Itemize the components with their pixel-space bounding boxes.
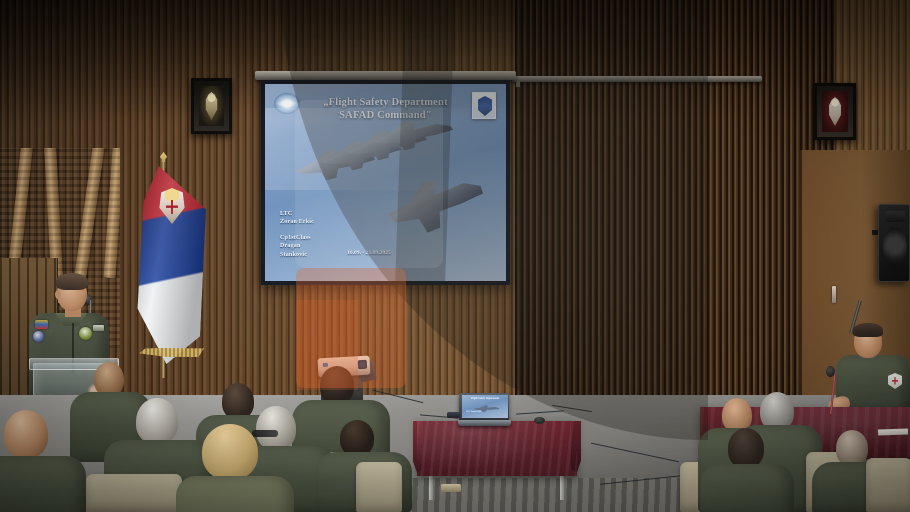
- table-leg: [560, 472, 564, 500]
- slide-title-line2: SAFAD Command": [299, 110, 472, 123]
- presentation-slide: „Flight Safety Department SAFAD Command"…: [265, 84, 506, 281]
- fighter-jet-icon: [375, 162, 491, 246]
- presenter-rank: LTC: [280, 210, 390, 218]
- screen-roller-housing[interactable]: [255, 71, 516, 80]
- copresenter-rank: Cp1stClass: [280, 234, 390, 242]
- wall-dense-slat-panel: [515, 0, 835, 400]
- coat-of-arms-icon: [204, 92, 219, 120]
- laptop-lid: Flight Safety Department LTC Zoran Erkic: [459, 393, 509, 421]
- slide-date-range: 16.09. - 21.09.2025: [347, 250, 391, 256]
- chest-patch-icon: [79, 327, 92, 340]
- audience-head: [256, 406, 296, 450]
- screen-frame: „Flight Safety Department SAFAD Command"…: [261, 80, 510, 285]
- serbian-flag: [131, 152, 215, 378]
- rail-bracket: [516, 80, 520, 87]
- eyeglasses-icon: [252, 430, 278, 437]
- slide-title-line1: „Flight Safety Department: [299, 97, 472, 110]
- audience-head: [320, 366, 354, 404]
- projection-screen: „Flight Safety Department SAFAD Command"…: [261, 71, 510, 285]
- wall-mounted-rail: [512, 76, 762, 82]
- chair: [86, 474, 182, 512]
- laptop-slide-title: Flight Safety Department: [462, 397, 508, 400]
- photo-scene: „Flight Safety Department SAFAD Command"…: [0, 0, 910, 512]
- unit-emblem-icon: [827, 97, 843, 126]
- flag-patch-icon: [35, 320, 48, 329]
- flag-fringe: [135, 348, 207, 357]
- presenter-hair: [56, 273, 88, 290]
- wall-loudspeaker: [878, 204, 910, 282]
- slide-title: „Flight Safety Department SAFAD Command": [265, 97, 506, 122]
- audience-head: [728, 428, 764, 468]
- paper-document: [878, 428, 908, 435]
- audience-head: [340, 420, 374, 456]
- presenter-name: Zoran Erkic: [280, 218, 390, 226]
- framed-coat-of-arms-left: [191, 78, 232, 134]
- officer-hair: [853, 323, 883, 337]
- audience-body: [700, 464, 794, 512]
- audience-head: [836, 430, 868, 466]
- presenter-ear: [55, 290, 61, 299]
- audience-head: [136, 398, 178, 444]
- door-handle-icon[interactable]: [832, 286, 836, 303]
- table-microphone-head: [826, 366, 835, 377]
- laptop-screen: Flight Safety Department LTC Zoran Erkic: [462, 395, 508, 418]
- equipment-table: [417, 421, 577, 476]
- floor-box: [441, 484, 461, 492]
- audience-head: [94, 362, 124, 396]
- audience-body: [176, 476, 294, 512]
- slide-presenter-block: LTC Zoran Erkic Cp1stClass Dragan Stanko…: [280, 210, 390, 266]
- audience-head: [222, 383, 254, 419]
- chair: [356, 462, 402, 512]
- laptop-keyboard-base[interactable]: [458, 420, 511, 426]
- audience-head: [202, 424, 258, 480]
- audience-head: [4, 410, 48, 458]
- framed-unit-emblem-right: [814, 83, 856, 140]
- laptop-slide-presenter: LTC Zoran Erkic: [466, 411, 482, 414]
- presentation-laptop[interactable]: Flight Safety Department LTC Zoran Erkic: [458, 393, 511, 427]
- shoulder-patch-icon: [33, 331, 44, 342]
- chair: [866, 458, 910, 512]
- audience-body: [0, 456, 86, 512]
- computer-mouse[interactable]: [534, 417, 545, 424]
- table-leg: [429, 472, 433, 500]
- name-tape-icon: [93, 325, 104, 331]
